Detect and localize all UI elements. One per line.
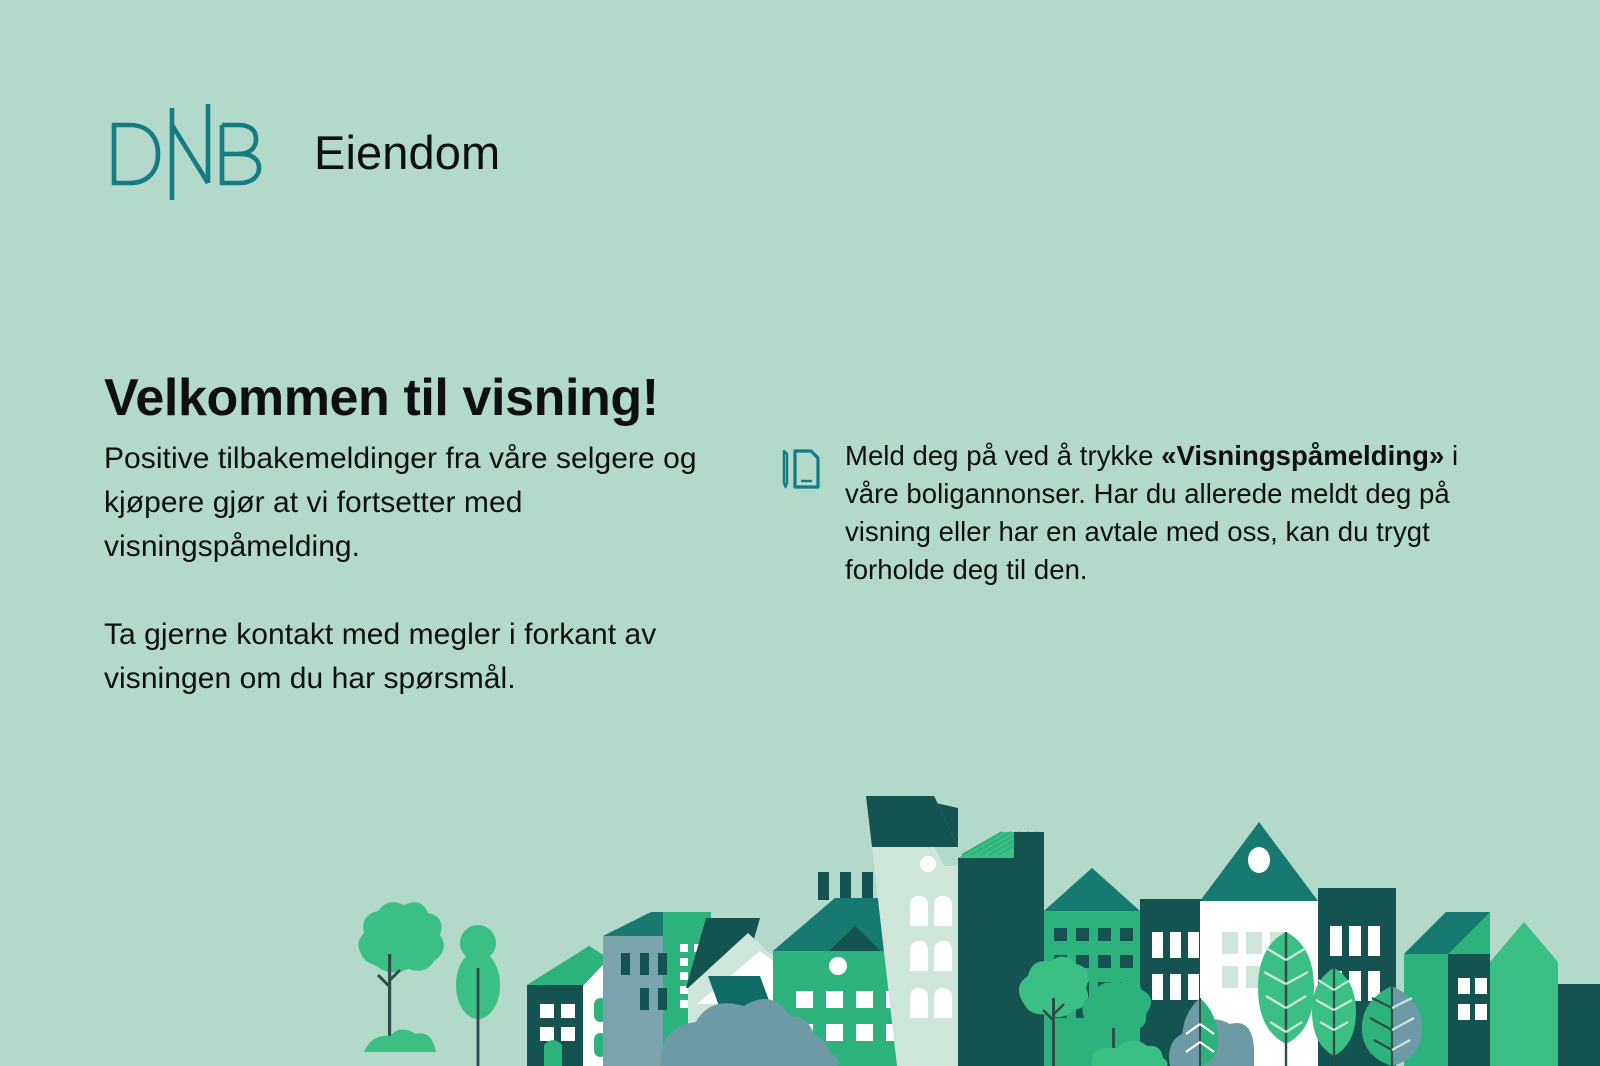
tree-round-left: [358, 902, 443, 1052]
building-dark-teal-left: [527, 985, 583, 1066]
building-dark-slim-tower: [958, 832, 1044, 1066]
tree-tall-thin: [456, 925, 500, 1066]
dnb-logo: [106, 104, 278, 200]
intro-paragraph-2: Ta gjerne kontakt med megler i forkant a…: [104, 613, 744, 701]
brand-word: Eiendom: [314, 129, 500, 176]
page-title: Velkommen til visning!: [104, 370, 659, 427]
intro-paragraph-1: Positive tilbakemeldinger fra våre selge…: [104, 437, 744, 569]
building-far-right-gable: [1490, 922, 1600, 1066]
signup-bold-term: «Visningspåmelding»: [1161, 440, 1444, 471]
signup-text-before: Meld deg på ved å trykke: [845, 440, 1161, 471]
document-with-pen-icon: [778, 442, 822, 492]
right-text-column: Meld deg på ved å trykke «Visningspåmeld…: [778, 437, 1498, 589]
signup-instruction: Meld deg på ved å trykke «Visningspåmeld…: [845, 437, 1498, 589]
brand-lockup: Eiendom: [106, 104, 500, 200]
city-skyline-illustration: [0, 736, 1600, 1066]
poster-page: Eiendom Velkommen til visning! Positive …: [0, 0, 1600, 1066]
left-text-column: Positive tilbakemeldinger fra våre selge…: [104, 437, 744, 701]
